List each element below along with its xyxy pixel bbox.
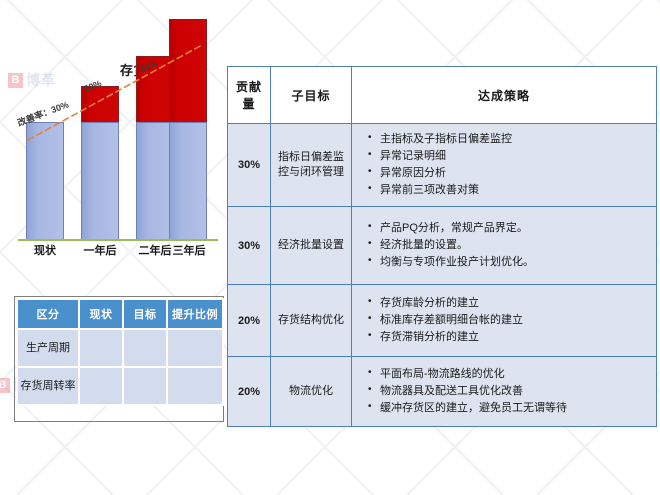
bar-segment-improvement: [169, 19, 207, 122]
list-item: 经济批量的设置。: [380, 237, 650, 254]
strategy-header-strategy: 达成策略: [352, 67, 657, 124]
kpi-row-improvement[interactable]: [167, 329, 223, 367]
strategy-header-subgoal: 子目标: [271, 67, 352, 124]
strategy-gap-value: 30%: [228, 124, 271, 207]
list-item: 物流器具及配送工具优化改善: [380, 383, 650, 400]
kpi-row-improvement[interactable]: [167, 367, 223, 405]
bar-segment-base: [81, 122, 119, 240]
kpi-header-target: 目标: [123, 299, 167, 329]
strategy-header-gap-line2: 量: [229, 95, 269, 112]
bar-segment-base: [169, 122, 207, 240]
list-item: 缓冲存货区的建立，避免员工无谓等待: [380, 400, 650, 417]
strategy-subgoal: 经济批量设置: [271, 207, 352, 285]
list-item: 异常原因分析: [380, 165, 650, 182]
kpi-row-name: 生产周期: [17, 329, 79, 367]
bar-group-0: [26, 122, 64, 240]
list-item: 均衡与专项作业投产计划优化。: [380, 254, 650, 271]
bar-group-3: [169, 19, 207, 240]
bar-segment-base: [26, 122, 64, 240]
x-label-3: 三年后: [161, 242, 217, 258]
kpi-header-category: 区分: [17, 299, 79, 329]
kpi-row-current[interactable]: [79, 329, 123, 367]
strategy-list: 平面布局-物流路线的优化 物流器具及配送工具优化改善 缓冲存货区的建立，避免员工…: [366, 366, 650, 417]
table-row: 20% 存货结构优化 存货库龄分析的建立 标准库存差额明细台帐的建立 存货滞销分…: [228, 285, 657, 357]
strategy-list-cell: 存货库龄分析的建立 标准库存差额明细台帐的建立 存货滞销分析的建立: [352, 285, 657, 357]
kpi-row-name: 存货周转率: [17, 367, 79, 405]
strategy-subgoal: 存货结构优化: [271, 285, 352, 357]
kpi-header-improvement: 提升比例: [167, 299, 223, 329]
strategy-list-cell: 产品PQ分析，常规产品界定。 经济批量的设置。 均衡与专项作业投产计划优化。: [352, 207, 657, 285]
strategy-header-gap-line1: 贡献: [229, 78, 269, 95]
strategy-list-cell: 主指标及子指标日偏差监控 异常记录明细 异常原因分析 异常前三项改善对策: [352, 124, 657, 207]
strategy-gap-value: 20%: [228, 357, 271, 427]
inventory-turnover-chart: 存货周转率 改: [14, 52, 220, 288]
strategy-subgoal-line2: 控与闭环管理: [274, 165, 348, 180]
strategy-subgoal: 物流优化: [271, 357, 352, 427]
list-item: 存货滞销分析的建立: [380, 329, 650, 346]
strategy-header-row: 贡献 量 子目标 达成策略: [228, 67, 657, 124]
list-item: 存货库龄分析的建立: [380, 295, 650, 312]
strategy-list: 主指标及子指标日偏差监控 异常记录明细 异常原因分析 异常前三项改善对策: [366, 131, 650, 199]
list-item: 主指标及子指标日偏差监控: [380, 131, 650, 148]
list-item: 平面布局-物流路线的优化: [380, 366, 650, 383]
table-row: 存货周转率: [17, 367, 223, 405]
x-label-0: 现状: [17, 242, 73, 258]
kpi-comparison-table: 区分 现状 目标 提升比例 生产周期 存货周转率: [16, 298, 224, 406]
bar-group-1: [81, 86, 119, 240]
table-row: 30% 指标日偏差监 控与闭环管理 主指标及子指标日偏差监控 异常记录明细 异常…: [228, 124, 657, 207]
kpi-row-target[interactable]: [123, 329, 167, 367]
strategy-table: 贡献 量 子目标 达成策略 30% 指标日偏差监 控与闭环管理 主指标及子指标日…: [227, 66, 657, 427]
kpi-header-row: 区分 现状 目标 提升比例: [17, 299, 223, 329]
chart-axis-line: [18, 239, 218, 241]
strategy-list: 产品PQ分析，常规产品界定。 经济批量的设置。 均衡与专项作业投产计划优化。: [366, 220, 650, 271]
strategy-gap-value: 30%: [228, 207, 271, 285]
strategy-header-gap: 贡献 量: [228, 67, 271, 124]
chart-x-axis-labels: 现状 一年后 二年后 三年后: [14, 242, 220, 262]
list-item: 标准库存差额明细台帐的建立: [380, 312, 650, 329]
list-item: 异常记录明细: [380, 148, 650, 165]
table-row: 生产周期: [17, 329, 223, 367]
x-label-1: 一年后: [72, 242, 128, 258]
list-item: 异常前三项改善对策: [380, 182, 650, 199]
chart-plot-area: 改善率：30% 20% 20% 现状 一年后 二年后 三年后: [14, 52, 220, 262]
table-row: 30% 经济批量设置 产品PQ分析，常规产品界定。 经济批量的设置。 均衡与专项…: [228, 207, 657, 285]
kpi-row-target[interactable]: [123, 367, 167, 405]
strategy-list-cell: 平面布局-物流路线的优化 物流器具及配送工具优化改善 缓冲存货区的建立，避免员工…: [352, 357, 657, 427]
strategy-subgoal-line1: 指标日偏差监: [274, 150, 348, 165]
kpi-row-current[interactable]: [79, 367, 123, 405]
strategy-gap-value: 20%: [228, 285, 271, 357]
strategy-subgoal: 指标日偏差监 控与闭环管理: [271, 124, 352, 207]
strategy-list: 存货库龄分析的建立 标准库存差额明细台帐的建立 存货滞销分析的建立: [366, 295, 650, 346]
kpi-header-current: 现状: [79, 299, 123, 329]
list-item: 产品PQ分析，常规产品界定。: [380, 220, 650, 237]
table-row: 20% 物流优化 平面布局-物流路线的优化 物流器具及配送工具优化改善 缓冲存货…: [228, 357, 657, 427]
